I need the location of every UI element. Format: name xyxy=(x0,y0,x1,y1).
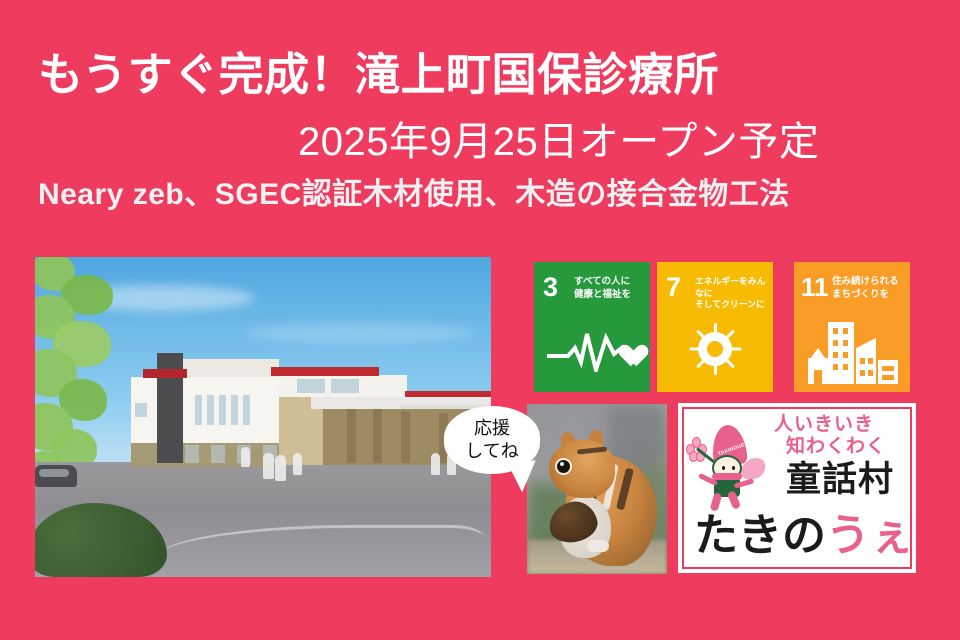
sdg-label: 住み続けられる まちづくりを xyxy=(832,276,906,301)
window xyxy=(195,395,202,425)
red-roof-accent xyxy=(271,367,379,376)
window xyxy=(297,379,325,393)
sdg-badge-3: 3 すべての人に 健康と福祉を xyxy=(534,262,650,392)
chipmunk-paw xyxy=(587,540,609,552)
chipmunk-eye xyxy=(557,460,570,473)
window xyxy=(219,395,226,425)
sdg-number: 11 xyxy=(801,274,829,300)
sun-disc xyxy=(698,332,732,366)
person-silhouette xyxy=(275,455,286,481)
heartbeat-icon xyxy=(534,314,650,392)
window xyxy=(207,395,214,425)
mascot-eye xyxy=(732,466,735,470)
page-title: もうすぐ完成！滝上町国保診療所 xyxy=(38,52,719,97)
person-silhouette xyxy=(241,447,250,467)
red-roof-accent xyxy=(143,369,187,378)
chipmunk-photo xyxy=(527,404,667,574)
window xyxy=(231,395,238,425)
mascot-scarf xyxy=(712,473,742,480)
logo-kana-part-a: たきの xyxy=(694,511,826,560)
cloud-shape xyxy=(245,323,475,343)
canopy-column xyxy=(347,409,356,463)
poster-canvas: もうすぐ完成！滝上町国保診療所 2025年9月25日オープン予定 Neary z… xyxy=(0,0,960,640)
person-silhouette xyxy=(263,453,274,479)
sdg-badge-7: 7 エネルギーをみんなに そしてクリーンに xyxy=(657,262,773,392)
power-symbol xyxy=(707,341,723,357)
sun-power-icon xyxy=(657,314,773,392)
fairy-mascot: TAKINOUE xyxy=(688,425,770,509)
person-silhouette xyxy=(293,453,302,475)
sdg-number: 7 xyxy=(666,274,681,301)
building-wall-band xyxy=(131,443,279,467)
window xyxy=(331,379,359,393)
opening-date-subtitle: 2025年9月25日オープン予定 xyxy=(298,122,819,162)
window xyxy=(135,403,147,417)
sdg-label: すべての人に 健康と福祉を xyxy=(574,276,646,301)
window xyxy=(211,445,225,463)
sdg-label: エネルギーをみんなに そしてクリーンに xyxy=(695,276,769,311)
parked-car xyxy=(35,465,77,487)
window xyxy=(185,445,199,463)
window xyxy=(243,395,250,425)
city-buildings-icon xyxy=(794,314,910,392)
features-text: Neary zeb、SGEC認証木材使用、木造の接合金物工法 xyxy=(38,180,790,210)
canopy-column xyxy=(401,411,410,463)
heart-icon xyxy=(614,336,640,360)
sdg-number: 3 xyxy=(543,274,558,301)
town-logo-card: TAKINOUE 人いきいき 知わくわく 童話村 たきのうぇ xyxy=(678,403,916,573)
logo-name-kanji: 童話村 xyxy=(786,451,894,502)
speech-bubble-tail xyxy=(508,460,540,494)
logo-kana-part-b: うぇ xyxy=(826,511,914,560)
clinic-rendering-image xyxy=(35,257,491,577)
canopy-column xyxy=(373,409,382,463)
speech-bubble: 応援 してね xyxy=(444,406,540,474)
mascot-eye xyxy=(722,466,725,470)
logo-name-kana: たきのうぇ xyxy=(694,499,914,563)
sdg-badge-11: 11 住み続けられる まちづくりを xyxy=(794,262,910,392)
speech-bubble-text: 応援 してね xyxy=(444,417,540,463)
person-silhouette xyxy=(431,453,440,475)
